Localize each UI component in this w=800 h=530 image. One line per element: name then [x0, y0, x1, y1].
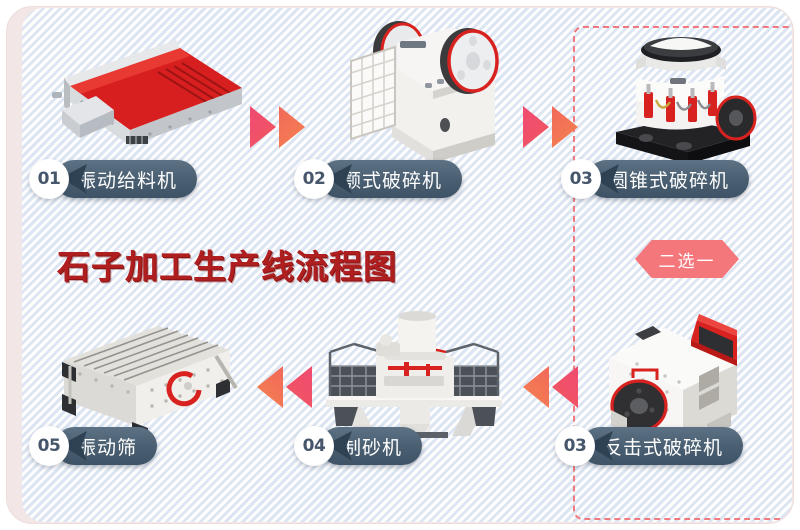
step-pill-body-05: › 振动筛 [55, 427, 157, 465]
machine-vibrating-feeder [30, 26, 250, 151]
machine-sand-making-machine [314, 304, 514, 439]
striped-panel: 石子加工生产线流程图 二选一 01 › 振动给料机 02 › 颚式破碎机 03 … [22, 8, 792, 522]
chevron-left-icon [523, 366, 549, 408]
step-number-01: 01 [29, 159, 69, 199]
step-label-04[interactable]: 04 › 制砂机 [294, 427, 422, 465]
step-name-03-cone: 圆锥式破碎机 [609, 166, 729, 193]
flowchart-canvas: 石子加工生产线流程图 二选一 01 › 振动给料机 02 › 颚式破碎机 03 … [0, 0, 800, 530]
step-number-05: 05 [29, 426, 69, 466]
chevron-left-icon [257, 366, 283, 408]
step-pill-body-04: › 制砂机 [320, 427, 422, 465]
chevron-left-icon [552, 366, 578, 408]
step-pill-body-03-cone: › 圆锥式破碎机 [587, 160, 749, 198]
arrow-jaw-to-cone [523, 106, 578, 148]
machine-impact-crusher [587, 306, 782, 446]
step-label-03-impact[interactable]: 03 › 反击式破碎机 [555, 427, 743, 465]
choose-one-label: 二选一 [659, 247, 716, 272]
chevron-right-icon [250, 106, 276, 148]
machine-cone-crusher [584, 20, 774, 165]
step-number-02: 02 [294, 159, 334, 199]
step-name-05: 振动筛 [77, 433, 137, 460]
step-name-02: 颚式破碎机 [342, 166, 442, 193]
step-number-04: 04 [294, 426, 334, 466]
arrow-impact-to-sand [523, 366, 578, 408]
step-pill-body-03-impact: › 反击式破碎机 [581, 427, 743, 465]
step-name-04: 制砂机 [342, 433, 402, 460]
step-pill-body-02: › 颚式破碎机 [320, 160, 462, 198]
choose-one-badge: 二选一 [635, 240, 739, 278]
step-label-03-cone[interactable]: 03 › 圆锥式破碎机 [561, 160, 749, 198]
step-number-03-cone: 03 [561, 159, 601, 199]
step-label-01[interactable]: 01 › 振动给料机 [29, 160, 197, 198]
machine-vibrating-screen [40, 304, 250, 439]
step-label-05[interactable]: 05 › 振动筛 [29, 427, 157, 465]
chevron-right-icon [552, 106, 578, 148]
step-name-03-impact: 反击式破碎机 [603, 433, 723, 460]
step-name-01: 振动给料机 [77, 166, 177, 193]
arrow-feeder-to-jaw [250, 106, 305, 148]
step-pill-body-01: › 振动给料机 [55, 160, 197, 198]
step-label-02[interactable]: 02 › 颚式破碎机 [294, 160, 462, 198]
chevron-left-icon [286, 366, 312, 408]
chevron-right-icon [523, 106, 549, 148]
chevron-right-icon [279, 106, 305, 148]
arrow-sand-to-screen [257, 366, 312, 408]
machine-jaw-crusher [337, 13, 527, 163]
step-number-03-impact: 03 [555, 426, 595, 466]
page-title: 石子加工生产线流程图 [57, 240, 397, 288]
